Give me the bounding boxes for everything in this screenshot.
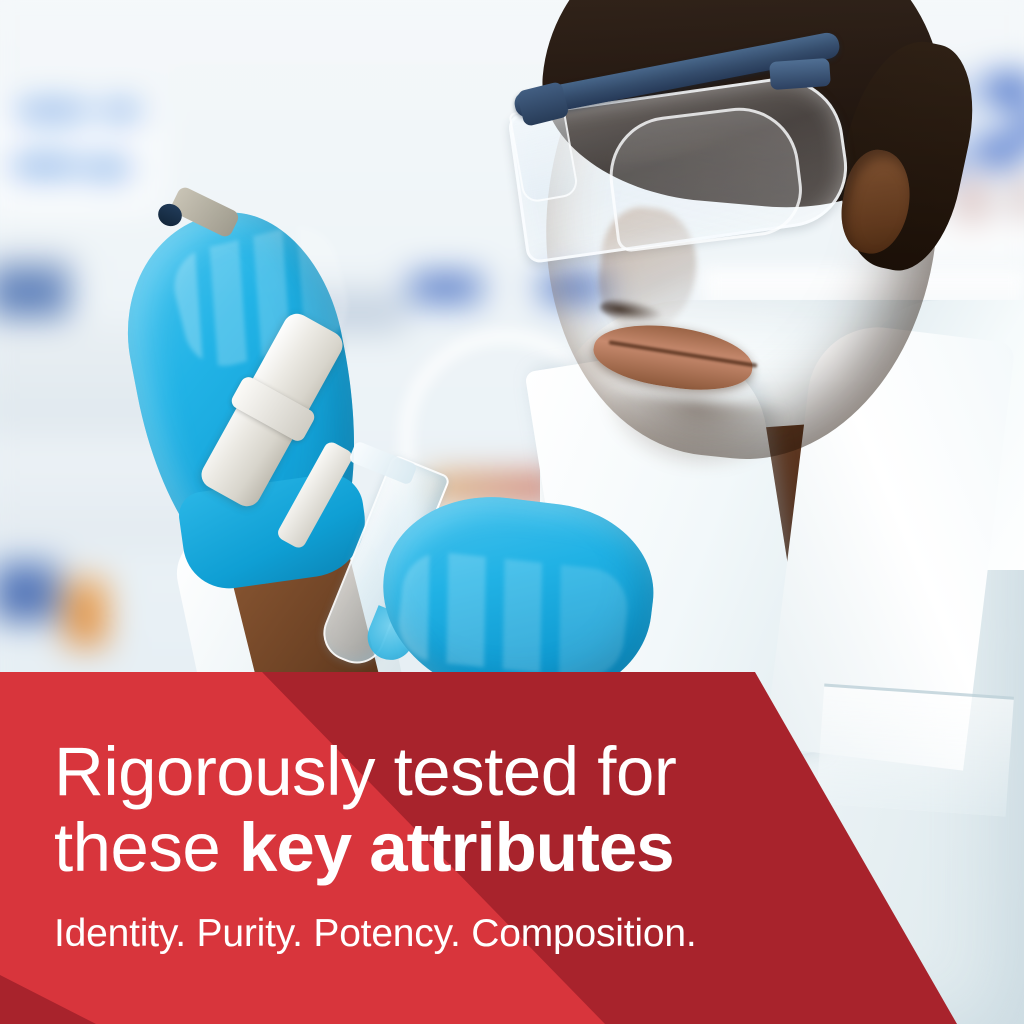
banner-canvas: Rigorously tested for these key attribut…	[0, 0, 1024, 1024]
subheadline: Identity. Purity. Potency. Composition.	[54, 912, 814, 956]
headline-line-2: these key attributes	[54, 810, 814, 886]
lab-coat-pocket	[816, 684, 1014, 817]
banner-text-block: Rigorously tested for these key attribut…	[54, 672, 814, 1024]
headline-line-2-bold: key attributes	[239, 809, 674, 886]
safety-goggles-hinge	[769, 58, 831, 90]
headline-line-2-light: these	[54, 809, 239, 886]
headline-line-1: Rigorously tested for	[54, 733, 676, 810]
headline: Rigorously tested for these key attribut…	[54, 734, 814, 886]
glove-fingers	[395, 548, 631, 681]
